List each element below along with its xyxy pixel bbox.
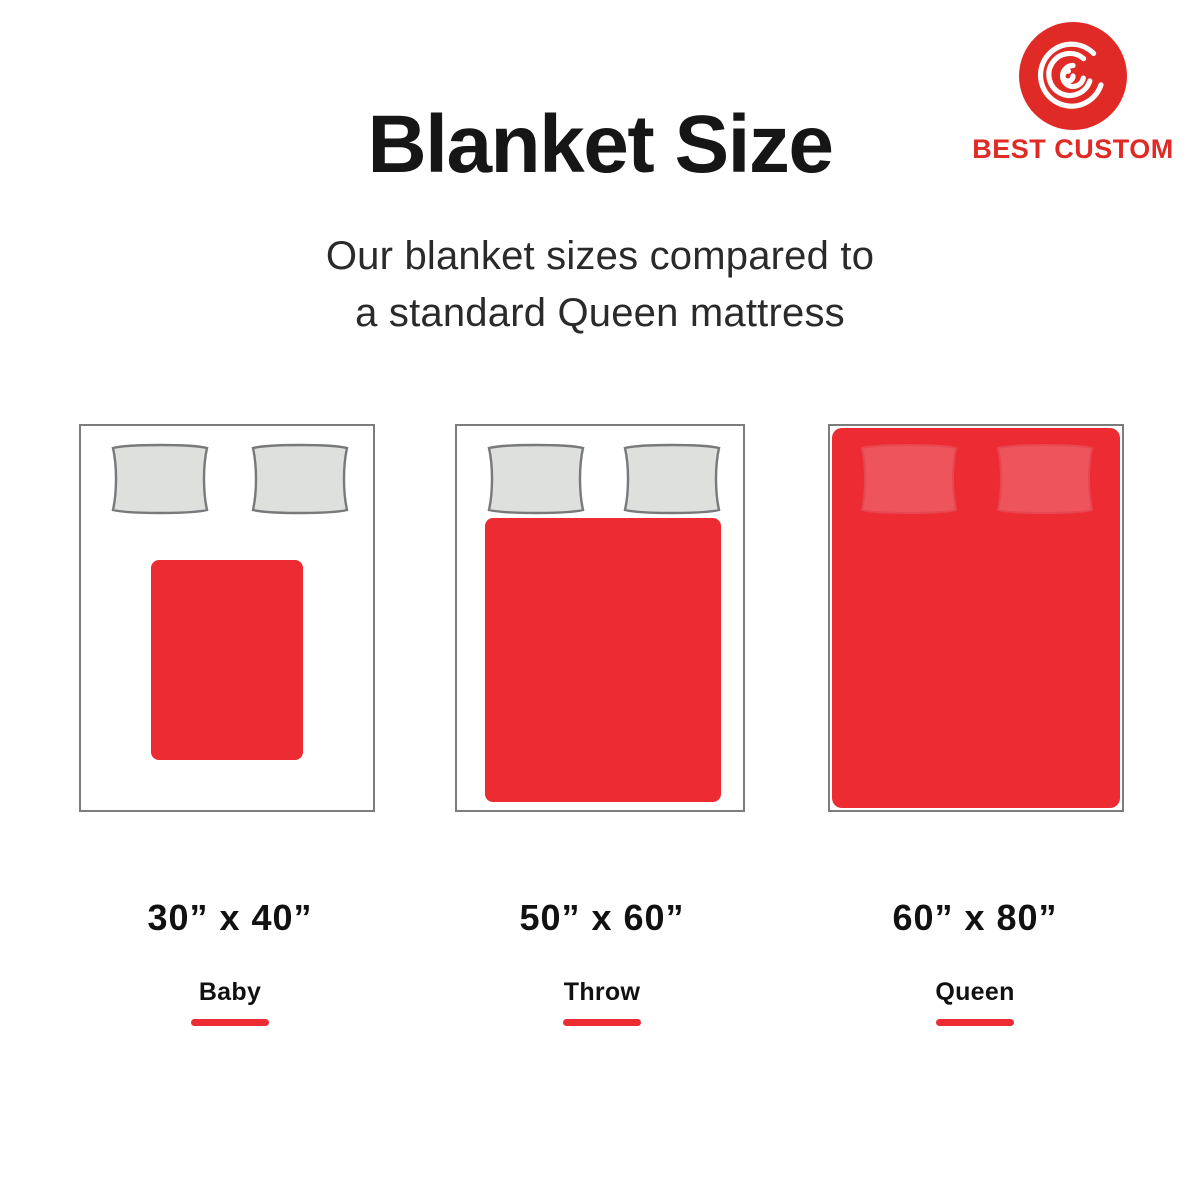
size-captions-row: 30” x 40” Baby 50” x 60” Throw 60” x 80”… xyxy=(0,900,1200,1060)
size-dimensions: 50” x 60” xyxy=(432,900,772,936)
size-dimensions: 60” x 80” xyxy=(805,900,1145,936)
pillow-icon xyxy=(620,442,724,516)
pillow-icon xyxy=(484,442,588,516)
size-name: Throw xyxy=(432,980,772,1005)
pillow-icon xyxy=(857,442,961,516)
pillow-icon xyxy=(993,442,1097,516)
size-caption-throw: 50” x 60” Throw xyxy=(432,900,772,1026)
blanket-shape-baby xyxy=(151,560,303,760)
pillow-icon xyxy=(108,442,212,516)
bed-diagram-queen xyxy=(828,424,1124,812)
size-name: Queen xyxy=(805,980,1145,1005)
bed-diagram-baby xyxy=(79,424,375,812)
accent-underline xyxy=(191,1019,269,1026)
size-caption-baby: 30” x 40” Baby xyxy=(60,900,400,1026)
accent-underline xyxy=(936,1019,1014,1026)
size-name: Baby xyxy=(60,980,400,1005)
page-title: Blanket Size xyxy=(0,104,1200,186)
pillow-icon xyxy=(248,442,352,516)
blanket-shape-throw xyxy=(485,518,721,802)
bed-comparison-row xyxy=(0,424,1200,816)
size-caption-queen: 60” x 80” Queen xyxy=(805,900,1145,1026)
accent-underline xyxy=(563,1019,641,1026)
page-subtitle: Our blanket sizes compared to a standard… xyxy=(0,228,1200,342)
size-dimensions: 30” x 40” xyxy=(60,900,400,936)
bed-diagram-throw xyxy=(455,424,745,812)
